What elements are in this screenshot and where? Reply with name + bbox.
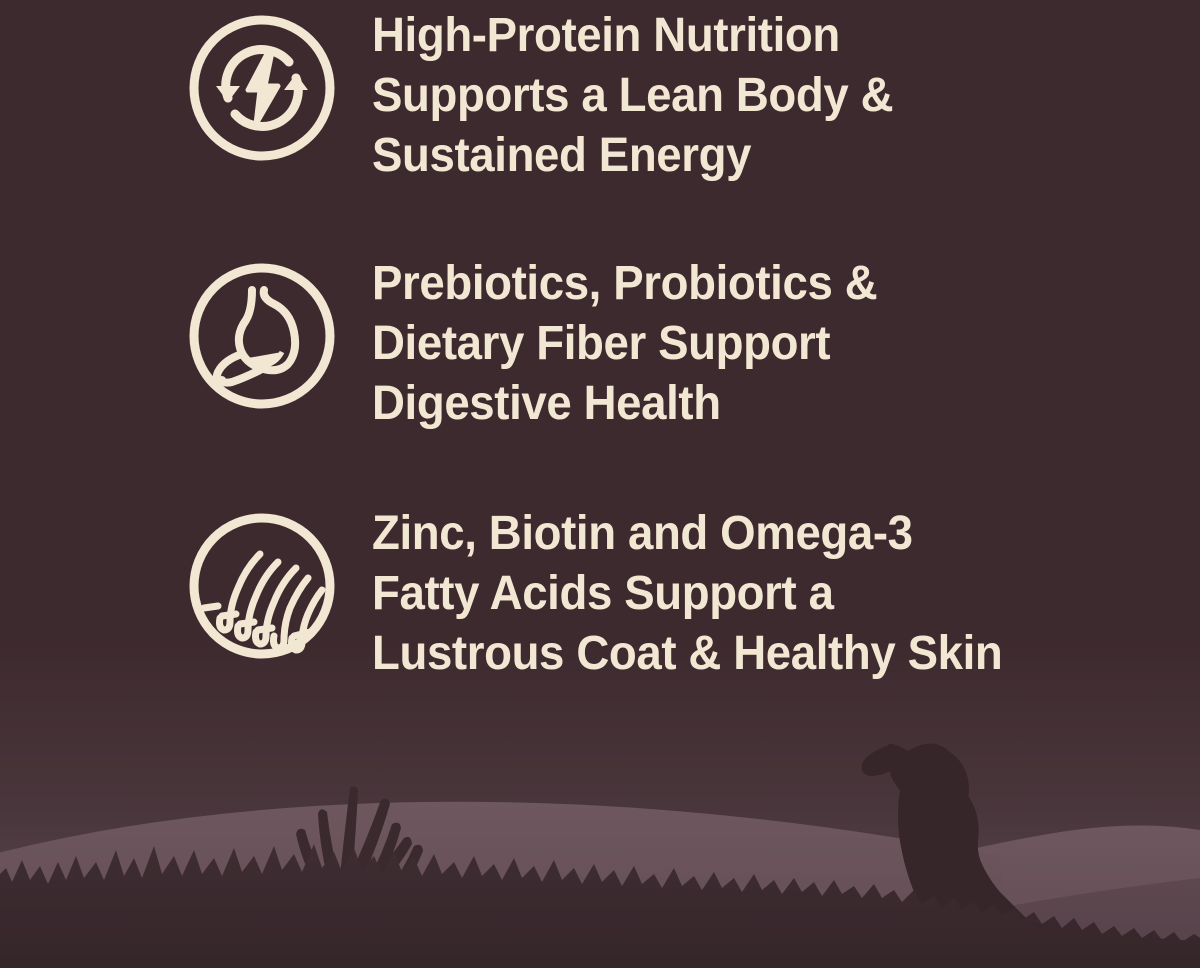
feature-text-digestive: Prebiotics, Probiotics & Dietary Fiber S… — [372, 254, 877, 434]
feature-text-high-protein: High-Protein Nutrition Supports a Lean B… — [372, 6, 893, 186]
hill-far-right — [700, 825, 1200, 968]
feature-item-high-protein: High-Protein Nutrition Supports a Lean B… — [186, 6, 921, 186]
energy-metabolism-icon — [186, 12, 338, 164]
stomach-digestive-icon — [186, 260, 338, 412]
feature-item-coat-skin: Zinc, Biotin and Omega-3 Fatty Acids Sup… — [186, 504, 1036, 684]
hair-follicle-coat-icon — [186, 510, 338, 662]
feature-text-coat-skin: Zinc, Biotin and Omega-3 Fatty Acids Sup… — [372, 504, 1002, 684]
hill-mid-right — [600, 878, 1200, 968]
product-feature-panel: High-Protein Nutrition Supports a Lean B… — [0, 0, 1200, 968]
hill-near — [0, 930, 1200, 968]
foreground-grass — [0, 844, 1200, 968]
hill-far-left — [0, 802, 1010, 968]
hill-mid-left — [0, 880, 900, 968]
tall-grass-tuft — [296, 786, 423, 911]
feature-item-digestive: Prebiotics, Probiotics & Dietary Fiber S… — [186, 254, 904, 434]
sky-gradient — [0, 640, 1200, 968]
sitting-dog-silhouette — [862, 744, 1200, 968]
